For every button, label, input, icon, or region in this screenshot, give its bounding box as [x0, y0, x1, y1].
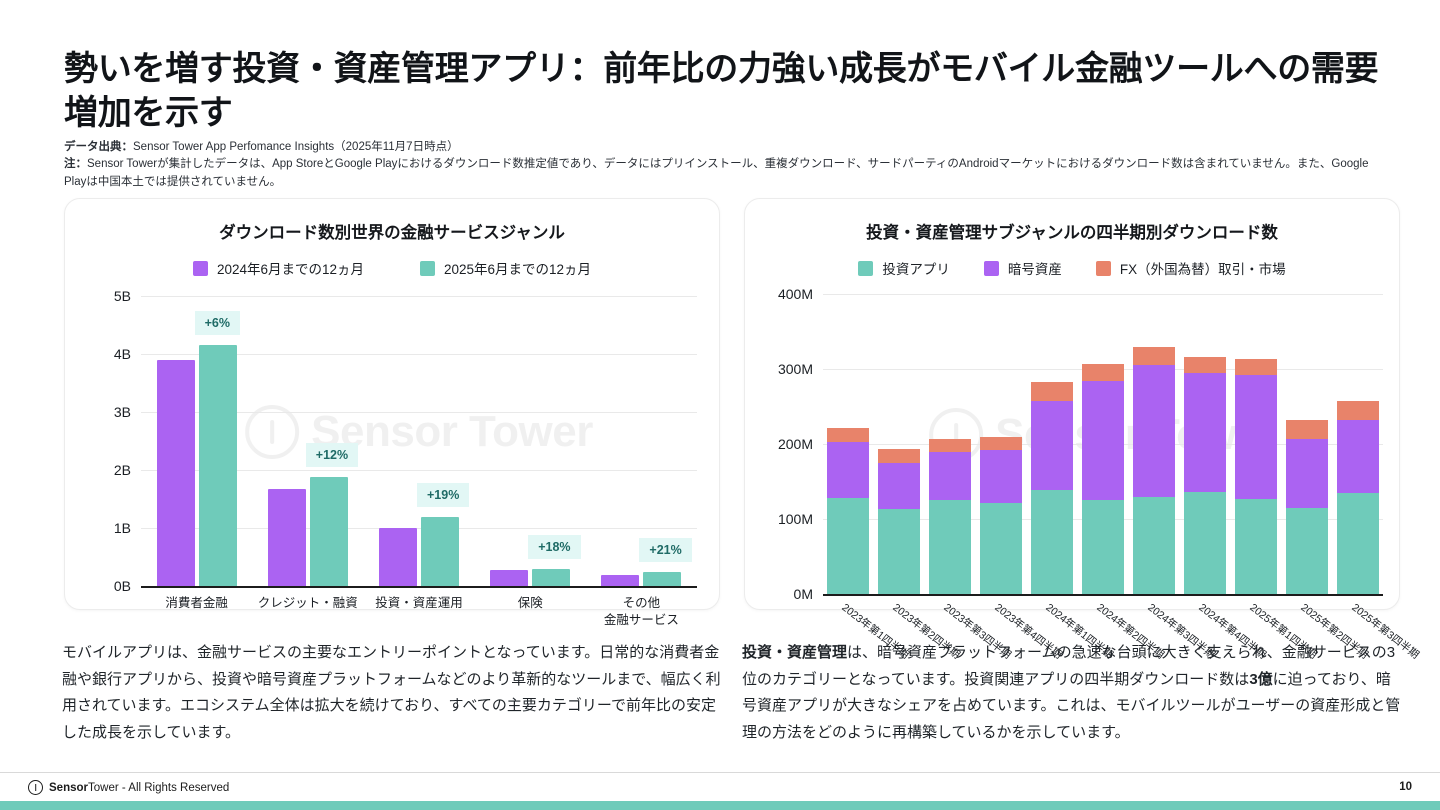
bar-group: 2025年第1四半期 [1230, 294, 1281, 594]
bar-segment[interactable] [929, 452, 971, 501]
bar[interactable] [268, 489, 306, 586]
stacked-bar[interactable] [1286, 420, 1328, 594]
legend-swatch-icon [858, 261, 873, 276]
chart-plot-left: Sensor Tower 0B1B2B3B4B5B+6%消費者金融+12%クレジ… [141, 296, 697, 586]
bar-group: 2023年第3四半期 [925, 294, 976, 594]
bar-group: +18%保険 [475, 296, 586, 586]
summary-paragraph-right: 投資・資産管理は、暗号資産プラットフォームの急速な台頭に大きく支えられ、金融サー… [742, 640, 1402, 747]
legend-label: FX（外国為替）取引・市場 [1120, 258, 1286, 278]
emphasis-text: 投資・資産管理 [742, 644, 847, 661]
bar[interactable] [421, 517, 459, 586]
bar-segment[interactable] [1133, 497, 1175, 595]
summary-paragraph-left: モバイルアプリは、金融サービスの主要なエントリーポイントとなっています。日常的な… [62, 640, 722, 747]
bar-segment[interactable] [929, 439, 971, 452]
growth-badge: +19% [417, 483, 469, 507]
bar-segment[interactable] [827, 498, 869, 594]
bar-segment[interactable] [1337, 401, 1379, 420]
bar-segment[interactable] [1031, 490, 1073, 594]
x-axis-category-label: 投資・資産運用 [363, 595, 474, 612]
legend-swatch-icon [984, 261, 999, 276]
bar-segment[interactable] [1082, 364, 1124, 381]
bar-segment[interactable] [1235, 499, 1277, 594]
y-axis-tick-label: 200M [778, 436, 823, 452]
x-axis-category-label: クレジット・融資 [252, 595, 363, 612]
y-axis-tick-label: 0B [114, 578, 141, 594]
bar-segment[interactable] [1286, 439, 1328, 508]
bar-segment[interactable] [1184, 357, 1226, 373]
footer-text: SensorTower - All Rights Reserved [49, 782, 229, 794]
stacked-bar[interactable] [929, 439, 971, 594]
stacked-bar[interactable] [878, 449, 920, 594]
bar-group: +21%その他金融サービス [586, 296, 697, 586]
bar-group: 2023年第2四半期 [874, 294, 925, 594]
bar-segment[interactable] [980, 437, 1022, 451]
stacked-bar[interactable] [827, 428, 869, 594]
bar[interactable] [199, 345, 237, 586]
footer-divider [0, 772, 1440, 773]
growth-badge: +18% [528, 535, 580, 559]
legend-swatch-icon [193, 261, 208, 276]
note-value: Sensor Towerが集計したデータは、App StoreとGoogle P… [64, 158, 1368, 187]
x-axis-category-label: 消費者金融 [141, 595, 252, 612]
bar-segment[interactable] [1235, 359, 1277, 376]
bar-group: +19%投資・資産運用 [363, 296, 474, 586]
legend-label: 投資アプリ [882, 258, 950, 278]
bar-segment[interactable] [1133, 365, 1175, 496]
footer-rights: - All Rights Reserved [119, 782, 230, 794]
legend-swatch-icon [1096, 261, 1111, 276]
slide: 勢いを増す投資・資産管理アプリ：前年比の力強い成長がモバイル金融ツールへの需要増… [0, 0, 1440, 810]
source-value: Sensor Tower App Perfomance Insights（202… [133, 141, 459, 153]
growth-badge: +21% [639, 538, 691, 562]
bar-segment[interactable] [1235, 375, 1277, 499]
bar[interactable] [643, 572, 681, 587]
stacked-bar-groups: 2023年第1四半期2023年第2四半期2023年第3四半期2023年第4四半期… [823, 294, 1383, 594]
bar-segment[interactable] [980, 503, 1022, 595]
chart-legend-right: 投資アプリ 暗号資産 FX（外国為替）取引・市場 [745, 258, 1399, 278]
stacked-bar[interactable] [1337, 401, 1379, 594]
note-line: 注：Sensor Towerが集計したデータは、App StoreとGoogle… [64, 156, 1384, 191]
bar-group: 2025年第3四半期 [1332, 294, 1383, 594]
y-axis-tick-label: 0M [794, 586, 823, 602]
x-axis-category-label: その他金融サービス [586, 595, 697, 629]
bar-group: 2024年第1四半期 [1027, 294, 1078, 594]
note-label: 注： [64, 158, 87, 170]
bar-segment[interactable] [1184, 492, 1226, 594]
bar[interactable] [379, 528, 417, 586]
bar-segment[interactable] [878, 449, 920, 463]
footer-brand-rest: Tower [88, 782, 119, 794]
bar-segment[interactable] [929, 500, 971, 594]
bar-group: 2023年第1四半期 [823, 294, 874, 594]
sensor-tower-logo-icon [28, 780, 43, 795]
bar-segment[interactable] [1337, 493, 1379, 594]
bar-groups: +6%消費者金融+12%クレジット・融資+19%投資・資産運用+18%保険+21… [141, 296, 697, 586]
bar-segment[interactable] [1082, 381, 1124, 500]
source-label: データ出典： [64, 141, 133, 153]
bar-group: 2023年第4四半期 [976, 294, 1027, 594]
chart-plot-right: Sensor Tower 0M100M200M300M400M2023年第1四半… [823, 294, 1383, 594]
legend-item: FX（外国為替）取引・市場 [1096, 258, 1286, 278]
source-line: データ出典：Sensor Tower App Perfomance Insigh… [64, 139, 1384, 156]
stacked-bar[interactable] [1235, 359, 1277, 595]
legend-label: 2025年6月までの12ヵ月 [444, 258, 591, 278]
bar-segment[interactable] [827, 442, 869, 498]
bar[interactable] [157, 360, 195, 586]
bar-segment[interactable] [980, 450, 1022, 503]
page-title: 勢いを増す投資・資産管理アプリ：前年比の力強い成長がモバイル金融ツールへの需要増… [64, 48, 1384, 135]
legend-item: 2024年6月までの12ヵ月 [193, 258, 364, 278]
chart-legend-left: 2024年6月までの12ヵ月 2025年6月までの12ヵ月 [65, 258, 719, 278]
y-axis-tick-label: 4B [114, 346, 141, 362]
bar[interactable] [310, 477, 348, 586]
source-block: データ出典：Sensor Tower App Perfomance Insigh… [64, 139, 1384, 191]
chart-card-subgenres: 投資・資産管理サブジャンルの四半期別ダウンロード数 投資アプリ 暗号資産 FX（… [744, 198, 1400, 610]
bar-group: 2024年第4四半期 [1179, 294, 1230, 594]
y-axis-tick-label: 3B [114, 404, 141, 420]
bar-group: +6%消費者金融 [141, 296, 252, 586]
bar-group: 2024年第2四半期 [1078, 294, 1129, 594]
bar-group: 2024年第3四半期 [1128, 294, 1179, 594]
growth-badge: +6% [195, 311, 240, 335]
emphasis-text: 3億 [1249, 671, 1272, 688]
chart-axis-line [141, 586, 697, 588]
legend-item: 投資アプリ [858, 258, 950, 278]
stacked-bar[interactable] [1082, 364, 1124, 594]
bar-segment[interactable] [827, 428, 869, 442]
y-axis-tick-label: 5B [114, 288, 141, 304]
bar-segment[interactable] [1082, 500, 1124, 595]
y-axis-tick-label: 400M [778, 286, 823, 302]
legend-swatch-icon [420, 261, 435, 276]
bar-segment[interactable] [1337, 420, 1379, 493]
bar-segment[interactable] [1184, 373, 1226, 492]
bar-segment[interactable] [1031, 401, 1073, 490]
bar-segment[interactable] [1286, 420, 1328, 439]
legend-label: 2024年6月までの12ヵ月 [217, 258, 364, 278]
y-axis-tick-label: 100M [778, 511, 823, 527]
legend-label: 暗号資産 [1008, 258, 1062, 278]
y-axis-tick-label: 2B [114, 462, 141, 478]
x-axis-category-label: 保険 [475, 595, 586, 612]
bar[interactable] [601, 575, 639, 586]
stacked-bar[interactable] [1184, 357, 1226, 594]
y-axis-tick-label: 1B [114, 520, 141, 536]
legend-item: 暗号資産 [984, 258, 1062, 278]
stacked-bar[interactable] [980, 437, 1022, 595]
chart-axis-line [823, 594, 1383, 596]
stacked-bar[interactable] [1133, 347, 1175, 595]
bar-segment[interactable] [1133, 347, 1175, 366]
chart-title-left: ダウンロード数別世界の金融サービスジャンル [65, 219, 719, 243]
legend-item: 2025年6月までの12ヵ月 [420, 258, 591, 278]
y-axis-tick-label: 300M [778, 361, 823, 377]
bar[interactable] [490, 570, 528, 586]
footer-accent-bar [0, 801, 1440, 810]
chart-card-genres: ダウンロード数別世界の金融サービスジャンル 2024年6月までの12ヵ月 202… [64, 198, 720, 610]
growth-badge: +12% [306, 443, 358, 467]
bar-segment[interactable] [878, 509, 920, 594]
bar-segment[interactable] [1031, 382, 1073, 401]
chart-title-right: 投資・資産管理サブジャンルの四半期別ダウンロード数 [745, 219, 1399, 243]
bar-group: +12%クレジット・融資 [252, 296, 363, 586]
bar[interactable] [532, 569, 570, 586]
stacked-bar[interactable] [1031, 382, 1073, 594]
footer-brand: SensorTower - All Rights Reserved [28, 780, 229, 795]
footer-brand-bold: Sensor [49, 782, 88, 794]
bar-group: 2025年第2四半期 [1281, 294, 1332, 594]
bar-segment[interactable] [1286, 508, 1328, 594]
page-number: 10 [1399, 781, 1412, 793]
bar-segment[interactable] [878, 463, 920, 510]
